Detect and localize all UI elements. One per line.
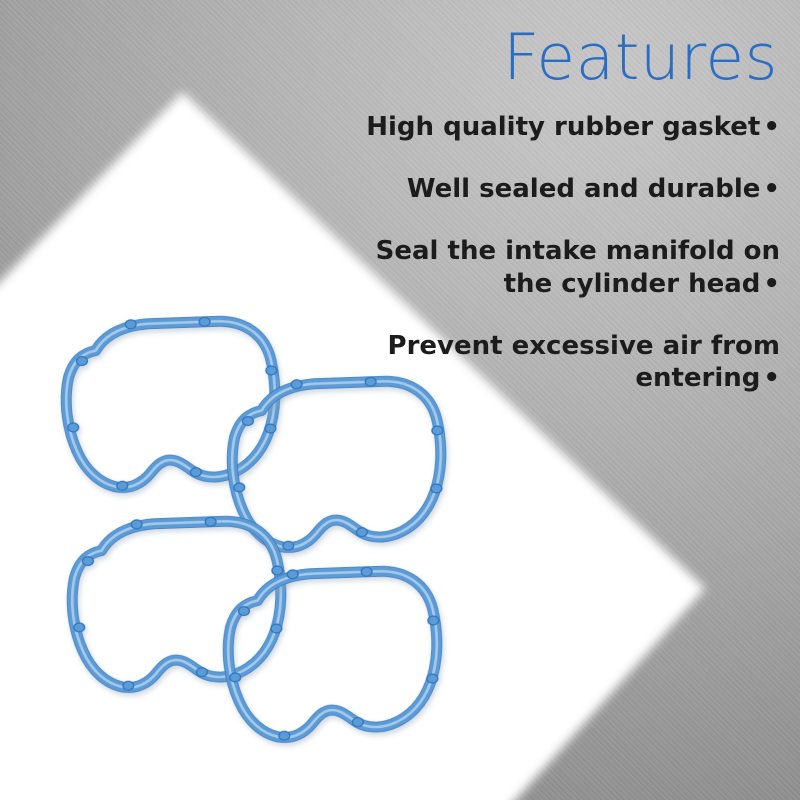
bullet-icon: • <box>760 363 780 393</box>
feature-item-label: High quality rubber gasket <box>366 112 760 142</box>
feature-item: Prevent excessive air from entering• <box>360 330 780 394</box>
gasket-locator-bump <box>361 567 372 576</box>
gasket-locator-bump <box>117 481 128 490</box>
gasket-locator-bump <box>196 668 207 677</box>
gasket-locator-bump <box>431 484 442 493</box>
gasket-locator-bump <box>428 616 439 625</box>
gasket-ring-1 <box>63 315 280 492</box>
gasket-locator-bump <box>238 606 249 615</box>
gasket-locator-bump <box>271 624 282 633</box>
gasket-locator-bump <box>74 623 85 632</box>
gasket-locator-bump <box>356 528 367 537</box>
gasket-locator-bump <box>272 566 283 575</box>
gasket-locator-bump <box>427 674 438 683</box>
gasket-locator-bump <box>283 541 294 550</box>
gasket-locator-bump <box>68 423 79 432</box>
gasket-locator-bump <box>199 317 210 326</box>
feature-item: Seal the intake manifold on the cylinder… <box>360 235 780 299</box>
gasket-locator-bump <box>123 681 134 690</box>
page-title: Features <box>360 26 780 89</box>
gasket-locator-bump <box>82 556 93 565</box>
gasket-locator-bump <box>234 483 245 492</box>
gasket-locator-bump <box>279 731 290 740</box>
bullet-icon: • <box>760 112 780 142</box>
feature-text-column: Features High quality rubber gasket•Well… <box>360 26 780 394</box>
gasket-locator-bump <box>432 426 443 435</box>
feature-list: High quality rubber gasket•Well sealed a… <box>360 111 780 394</box>
gasket-locator-bump <box>230 673 241 682</box>
bullet-icon: • <box>760 269 780 299</box>
feature-item: High quality rubber gasket• <box>360 111 780 143</box>
feature-item-label: Well sealed and durable <box>407 174 761 204</box>
gasket-locator-bump <box>291 380 302 389</box>
infographic-canvas: Features High quality rubber gasket•Well… <box>0 0 800 800</box>
gasket-locator-bump <box>287 570 298 579</box>
bullet-icon: • <box>760 174 780 204</box>
gasket-locator-bump <box>76 356 87 365</box>
feature-item: Well sealed and durable• <box>360 173 780 205</box>
feature-item-label: Prevent excessive air from entering <box>388 331 780 393</box>
gasket-locator-bump <box>125 320 136 329</box>
gasket-locator-bump <box>205 517 216 526</box>
gasket-locator-bump <box>242 416 253 425</box>
gasket-ring-2 <box>229 375 446 552</box>
gasket-locator-bump <box>266 366 277 375</box>
gasket-locator-bump <box>265 424 276 433</box>
gasket-locator-bump <box>131 520 142 529</box>
gasket-locator-bump <box>190 468 201 477</box>
gasket-locator-bump <box>352 718 363 727</box>
feature-item-label: Seal the intake manifold on the cylinder… <box>376 236 780 298</box>
